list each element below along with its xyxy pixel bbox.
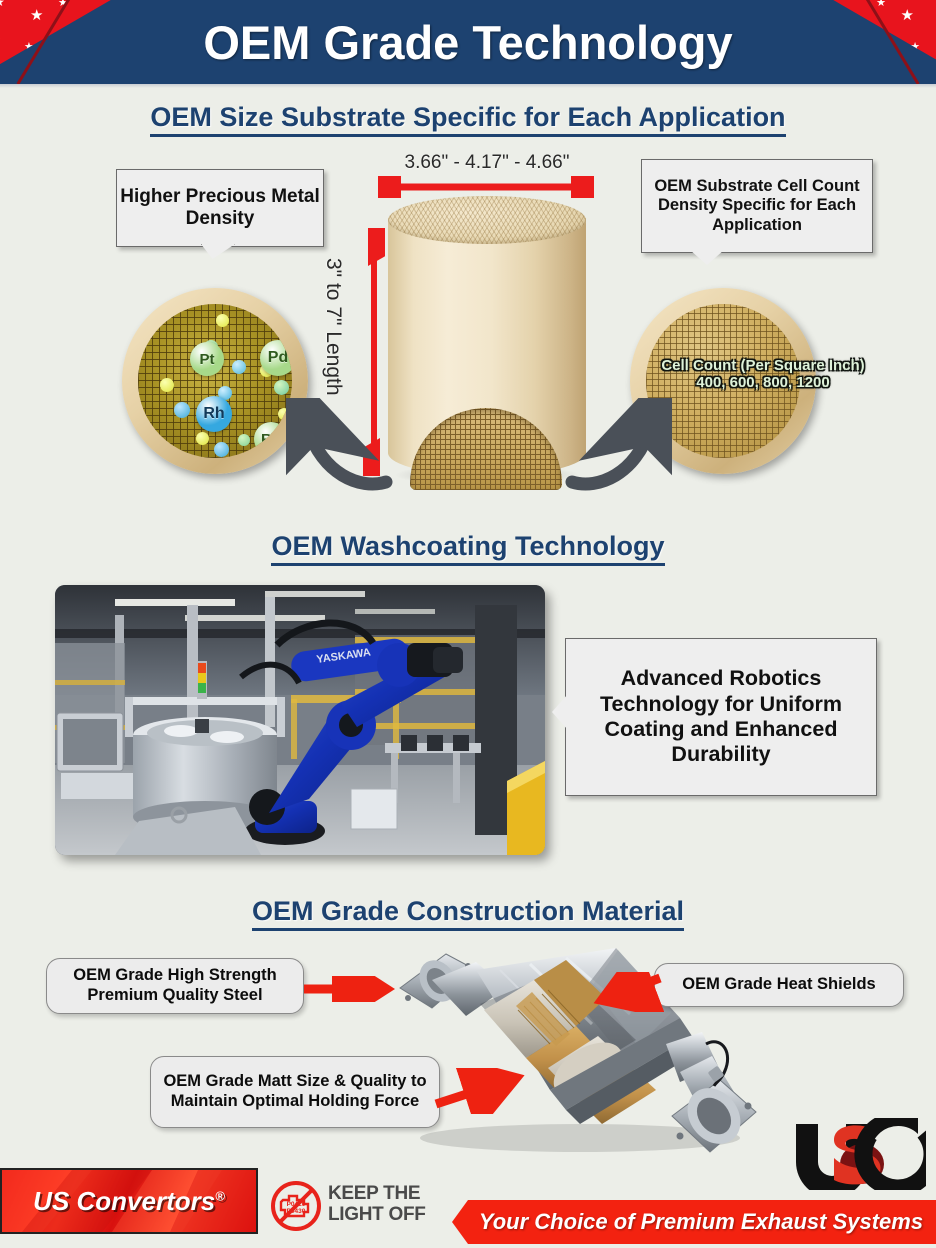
callout-matt-size: OEM Grade Matt Size & Quality to Maintai…: [150, 1056, 440, 1128]
metal-particle: [216, 314, 229, 327]
cell-count-annotation: Cell Count (Per Square Inch) 400, 600, 8…: [603, 357, 923, 392]
substrate-cylinder-image: [388, 196, 586, 496]
callout-higher-precious-metal-density: Higher Precious Metal Density: [116, 169, 324, 247]
callout-heat-shields: OEM Grade Heat Shields: [654, 963, 904, 1007]
cell-count-title: Cell Count (Per Square Inch): [603, 357, 923, 374]
metal-particle: [238, 434, 250, 446]
callout-premium-steel-text: OEM Grade High Strength Premium Quality …: [47, 966, 303, 1006]
arrow-to-heat-shield: [588, 972, 668, 1012]
metal-label-pd: Pd: [260, 340, 292, 376]
width-dimension-arrow: [378, 176, 594, 198]
section-heading-washcoat: OEM Washcoating Technology: [0, 531, 936, 562]
no-check-engine-light-icon: P0420 P0430: [270, 1180, 324, 1232]
metal-particle: [174, 402, 190, 418]
metal-label-rh-1: Rh: [196, 396, 232, 432]
precious-metal-cross-section: Pt Pd Rh Rh: [122, 288, 308, 474]
callout-heat-shields-text: OEM Grade Heat Shields: [682, 975, 875, 995]
curved-arrow-left: [286, 398, 396, 496]
washcoating-robot-photo: YASKAWA: [55, 585, 545, 855]
length-dimension-label: 3" to 7" Length: [321, 258, 345, 396]
section-heading-size-text: OEM Size Substrate Specific for Each App…: [150, 102, 785, 137]
callout-higher-precious-metal-density-text: Higher Precious Metal Density: [117, 186, 323, 231]
metal-label-pt: Pt: [190, 342, 224, 376]
arrow-to-matt: [434, 1068, 544, 1114]
cell-count-values: 400, 600, 800, 1200: [603, 374, 923, 391]
metal-particle: [232, 360, 246, 374]
section-heading-construction-text: OEM Grade Construction Material: [252, 896, 684, 931]
metal-particle: [196, 432, 209, 445]
us-convertors-logo: US Convertors®: [0, 1168, 258, 1234]
section-heading-construction: OEM Grade Construction Material: [0, 896, 936, 927]
callout-substrate-cell-count-text: OEM Substrate Cell Count Density Specifi…: [652, 177, 862, 235]
tagline-banner: Your Choice of Premium Exhaust Systems: [452, 1200, 936, 1244]
section-heading-size: OEM Size Substrate Specific for Each App…: [0, 102, 936, 133]
callout-matt-size-text: OEM Grade Matt Size & Quality to Maintai…: [161, 1072, 429, 1112]
callout-tail: [552, 695, 567, 729]
arrow-to-steel: [302, 976, 402, 1002]
keep-light-off-line1: KEEP THE: [328, 1184, 426, 1205]
metal-label-rh-2: Rh: [254, 422, 288, 456]
metal-particle: [160, 378, 174, 392]
width-dimension-label: 3.66" - 4.17" - 4.66": [385, 152, 589, 174]
tagline-text: Your Choice of Premium Exhaust Systems: [465, 1209, 923, 1235]
callout-advanced-robotics-text: Advanced Robotics Technology for Uniform…: [578, 666, 864, 767]
header-divider: [0, 84, 936, 88]
keep-light-off-text: KEEP THE LIGHT OFF: [328, 1184, 426, 1225]
callout-substrate-cell-count: OEM Substrate Cell Count Density Specifi…: [641, 159, 873, 253]
metal-particle: [274, 380, 289, 395]
keep-light-off-line2: LIGHT OFF: [328, 1205, 426, 1226]
callout-premium-steel: OEM Grade High Strength Premium Quality …: [46, 958, 304, 1014]
keep-light-off-badge: P0420 P0430 KEEP THE LIGHT OFF: [270, 1180, 445, 1232]
curved-arrow-right: [562, 398, 672, 496]
usc-logo-graphic: [790, 1118, 926, 1190]
callout-advanced-robotics: Advanced Robotics Technology for Uniform…: [565, 638, 877, 796]
callout-tail: [690, 250, 724, 265]
metal-particle: [214, 442, 229, 457]
section-heading-washcoat-text: OEM Washcoating Technology: [271, 531, 664, 566]
callout-tail: [201, 244, 235, 259]
us-convertors-logo-text: US Convertors®: [33, 1186, 225, 1217]
disc-face: Pt Pd Rh Rh: [138, 304, 292, 458]
robot-photo-graphic: YASKAWA: [55, 585, 545, 855]
page-title: OEM Grade Technology: [0, 0, 936, 84]
infographic-page: ★ ★ ★ ★ ★ ★ ★ ★ ★ ★ ★ ★ ★ ★ ★ ★ ★: [0, 0, 936, 1248]
usc-logo: [790, 1118, 926, 1190]
registered-mark: ®: [215, 1188, 225, 1203]
cylinder-top-honeycomb: [388, 196, 586, 244]
page-header: ★ ★ ★ ★ ★ ★ ★ ★ ★ ★ ★ ★ ★ ★ ★ ★ ★: [0, 0, 936, 84]
